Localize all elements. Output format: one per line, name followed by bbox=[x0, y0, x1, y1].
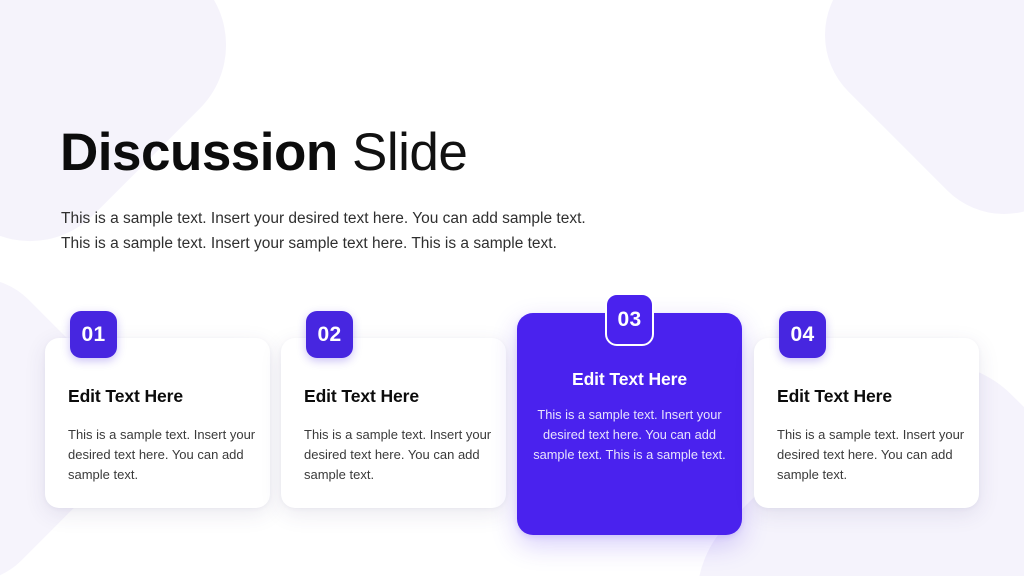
card-number-badge-01[interactable]: 01 bbox=[70, 311, 117, 358]
card-heading: Edit Text Here bbox=[304, 386, 419, 407]
content-card-04[interactable]: Edit Text Here This is a sample text. In… bbox=[754, 338, 979, 508]
card-number-badge-02[interactable]: 02 bbox=[306, 311, 353, 358]
card-body-text: This is a sample text. Insert your desir… bbox=[68, 425, 258, 484]
card-number-badge-03[interactable]: 03 bbox=[605, 293, 654, 346]
card-heading: Edit Text Here bbox=[517, 369, 742, 390]
content-card-01[interactable]: Edit Text Here This is a sample text. In… bbox=[45, 338, 270, 508]
slide-canvas: Discussion Slide This is a sample text. … bbox=[0, 0, 1024, 576]
card-body-text: This is a sample text. Insert your desir… bbox=[531, 405, 728, 464]
card-number-badge-04[interactable]: 04 bbox=[779, 311, 826, 358]
card-row: Edit Text Here This is a sample text. In… bbox=[0, 0, 1024, 576]
content-card-02[interactable]: Edit Text Here This is a sample text. In… bbox=[281, 338, 506, 508]
content-card-03-highlighted[interactable]: Edit Text Here This is a sample text. In… bbox=[517, 313, 742, 535]
card-heading: Edit Text Here bbox=[68, 386, 183, 407]
card-body-text: This is a sample text. Insert your desir… bbox=[777, 425, 967, 484]
card-heading: Edit Text Here bbox=[777, 386, 892, 407]
card-body-text: This is a sample text. Insert your desir… bbox=[304, 425, 494, 484]
